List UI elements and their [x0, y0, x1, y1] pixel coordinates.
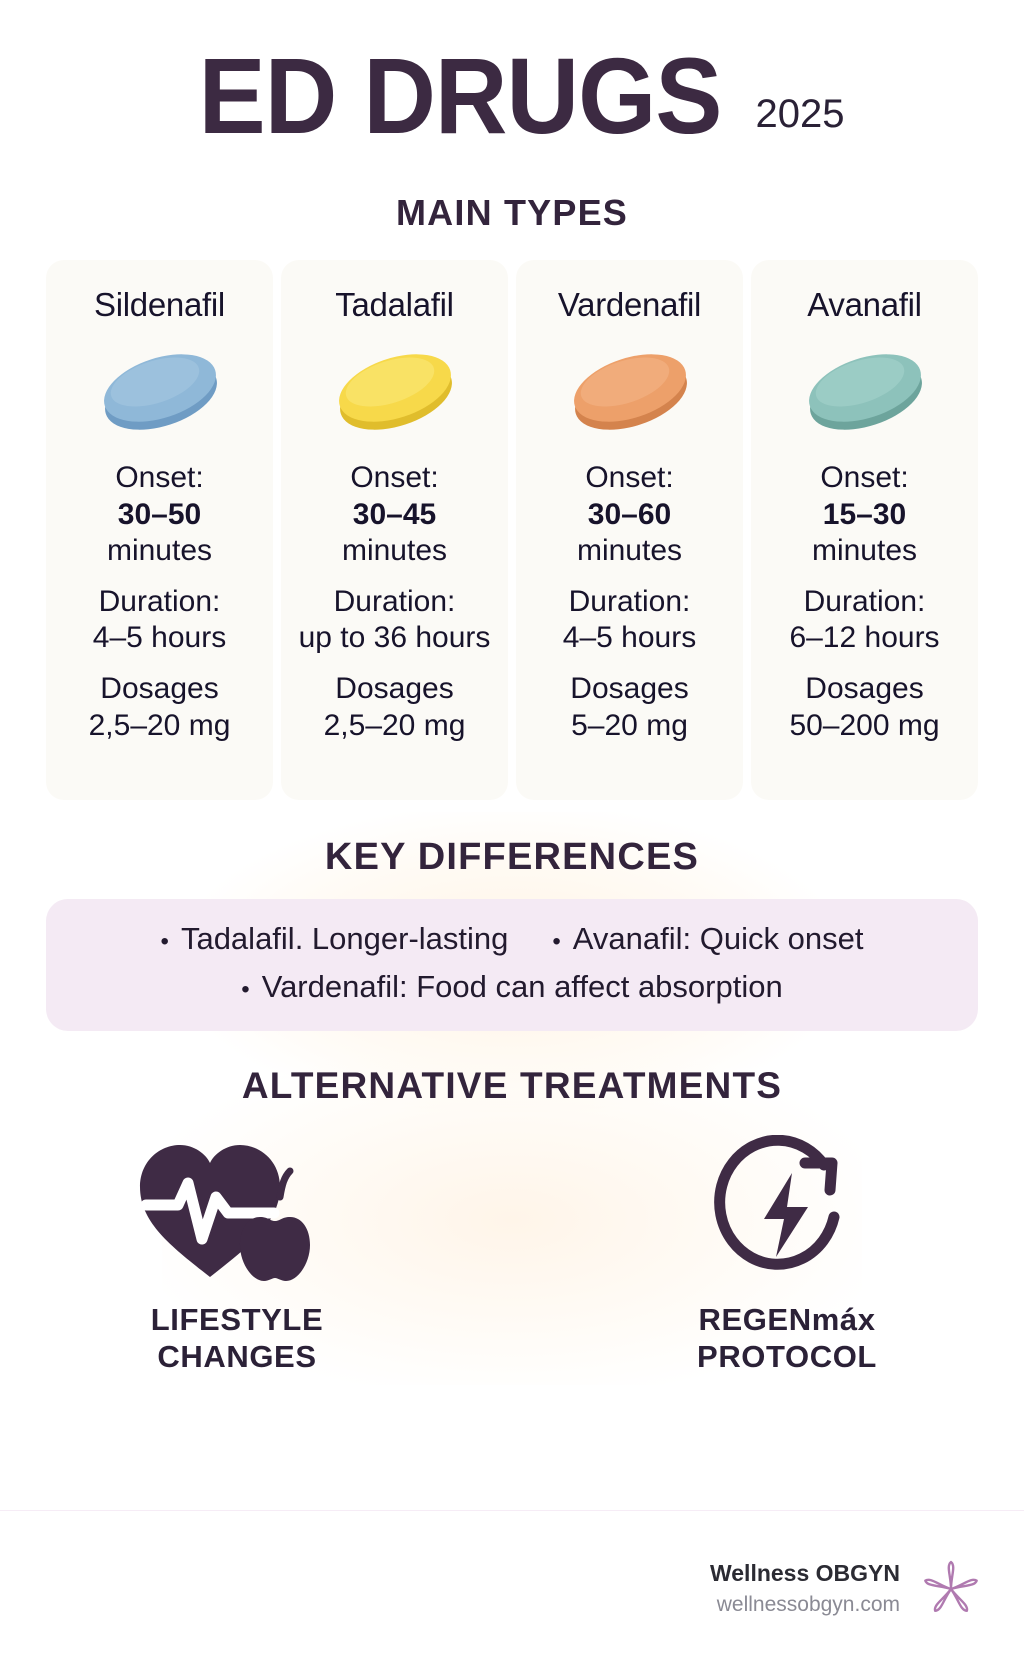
- drug-name: Tadalafil: [291, 286, 498, 324]
- drug-cards-row: Sildenafil Onset: 30–50 minutes Duration…: [0, 260, 1024, 800]
- drug-name: Avanafil: [761, 286, 968, 324]
- key-differences-section: KEY DIFFERENCES • Tadalafil. Longer-last…: [0, 836, 1024, 1031]
- alternative-treatments-row: LIFESTYLE CHANGES REGENmáx PROTOCOL: [0, 1135, 1024, 1375]
- regen-bolt-cycle-icon: [637, 1135, 937, 1285]
- alt-treatment-label-line1: LIFESTYLE CHANGES: [151, 1302, 323, 1374]
- onset-unit: minutes: [526, 533, 733, 570]
- list-item-label: Tadalafil. Longer-lasting: [181, 921, 508, 957]
- heart-pulse-apple-glyph: [132, 1135, 342, 1285]
- duration-value: 4–5 hours: [526, 620, 733, 657]
- dosage-value: 2,5–20 mg: [291, 708, 498, 745]
- list-item: • Avanafil: Quick onset: [552, 921, 863, 957]
- bullet-dot-icon: •: [552, 930, 560, 954]
- duration-value: up to 36 hours: [291, 620, 498, 657]
- drug-card-vardenafil: Vardenafil Onset: 30–60 minutes Duration…: [516, 260, 743, 800]
- flower-logo-icon: [920, 1558, 982, 1620]
- pill-shape-icon: [85, 340, 235, 440]
- onset-label: Onset:: [291, 460, 498, 497]
- title-text: ED DRUGS: [199, 42, 722, 150]
- duration-value: 4–5 hours: [56, 620, 263, 657]
- onset-value: 30–50: [56, 497, 263, 534]
- dosage-field: Dosages 50–200 mg: [761, 671, 968, 744]
- duration-label: Duration:: [291, 584, 498, 621]
- dosage-field: Dosages 5–20 mg: [526, 671, 733, 744]
- alt-treatment-label-line2: PROTOCOL: [697, 1339, 877, 1374]
- key-bullets-row-1: • Tadalafil. Longer-lasting • Avanafil: …: [70, 921, 954, 957]
- heart-pulse-apple-icon: [87, 1135, 387, 1285]
- onset-value: 30–60: [526, 497, 733, 534]
- alt-treatment-label-line1: REGENmáx: [698, 1302, 875, 1337]
- duration-label: Duration:: [526, 584, 733, 621]
- dosage-value: 5–20 mg: [526, 708, 733, 745]
- list-item-label: Avanafil: Quick onset: [573, 921, 864, 957]
- drug-name: Sildenafil: [56, 286, 263, 324]
- key-differences-heading: KEY DIFFERENCES: [0, 836, 1024, 879]
- dosage-value: 2,5–20 mg: [56, 708, 263, 745]
- list-item-label: Vardenafil: Food can affect absorption: [262, 969, 783, 1005]
- dosage-field: Dosages 2,5–20 mg: [291, 671, 498, 744]
- duration-field: Duration: 4–5 hours: [526, 584, 733, 657]
- duration-label: Duration:: [56, 584, 263, 621]
- footer: Wellness OBGYN wellnessobgyn.com: [0, 1510, 1024, 1666]
- pill-icon-tadalafil: [291, 334, 498, 446]
- bullet-dot-icon: •: [241, 978, 249, 1002]
- onset-label: Onset:: [56, 460, 263, 497]
- pill-shape-icon: [790, 340, 940, 440]
- dosage-label: Dosages: [291, 671, 498, 708]
- duration-value: 6–12 hours: [761, 620, 968, 657]
- alt-treatment-regenmax: REGENmáx PROTOCOL: [637, 1135, 937, 1375]
- drug-name: Vardenafil: [526, 286, 733, 324]
- drug-card-tadalafil: Tadalafil Onset: 30–45 minutes Duration:…: [281, 260, 508, 800]
- list-item: • Vardenafil: Food can affect absorption: [241, 969, 782, 1005]
- pill-shape-icon: [320, 340, 470, 440]
- alt-treatment-lifestyle: LIFESTYLE CHANGES: [87, 1135, 387, 1375]
- dosage-label: Dosages: [56, 671, 263, 708]
- infographic-page: ED DRUGS 2025 MAIN TYPES Sildenafil Onse…: [0, 0, 1024, 1666]
- key-bullets-row-2: • Vardenafil: Food can affect absorption: [70, 969, 954, 1005]
- footer-text-block: Wellness OBGYN wellnessobgyn.com: [710, 1560, 900, 1617]
- onset-unit: minutes: [761, 533, 968, 570]
- flower-logo-glyph: [920, 1558, 982, 1620]
- duration-field: Duration: up to 36 hours: [291, 584, 498, 657]
- pill-icon-vardenafil: [526, 334, 733, 446]
- duration-label: Duration:: [761, 584, 968, 621]
- list-item: • Tadalafil. Longer-lasting: [161, 921, 509, 957]
- pill-icon-avanafil: [761, 334, 968, 446]
- onset-label: Onset:: [761, 460, 968, 497]
- page-title: ED DRUGS 2025: [0, 0, 1024, 150]
- duration-field: Duration: 4–5 hours: [56, 584, 263, 657]
- alt-treatment-label: LIFESTYLE CHANGES: [87, 1301, 387, 1375]
- alt-treatment-label: REGENmáx PROTOCOL: [637, 1301, 937, 1375]
- dosage-value: 50–200 mg: [761, 708, 968, 745]
- alternative-treatments-heading: ALTERNATIVE TREATMENTS: [0, 1065, 1024, 1107]
- onset-unit: minutes: [56, 533, 263, 570]
- onset-field: Onset: 30–50 minutes: [56, 460, 263, 570]
- alternative-treatments-section: ALTERNATIVE TREATMENTS LIFESTYLE CHANGES: [0, 1065, 1024, 1395]
- onset-field: Onset: 30–45 minutes: [291, 460, 498, 570]
- key-differences-box: • Tadalafil. Longer-lasting • Avanafil: …: [46, 899, 978, 1031]
- dosage-label: Dosages: [761, 671, 968, 708]
- drug-card-avanafil: Avanafil Onset: 15–30 minutes Duration: …: [751, 260, 978, 800]
- regen-bolt-cycle-glyph: [712, 1135, 862, 1285]
- bullet-dot-icon: •: [161, 930, 169, 954]
- onset-field: Onset: 30–60 minutes: [526, 460, 733, 570]
- onset-unit: minutes: [291, 533, 498, 570]
- footer-url[interactable]: wellnessobgyn.com: [710, 1593, 900, 1617]
- onset-value: 15–30: [761, 497, 968, 534]
- pill-icon-sildenafil: [56, 334, 263, 446]
- onset-field: Onset: 15–30 minutes: [761, 460, 968, 570]
- drug-card-sildenafil: Sildenafil Onset: 30–50 minutes Duration…: [46, 260, 273, 800]
- dosage-field: Dosages 2,5–20 mg: [56, 671, 263, 744]
- title-year: 2025: [756, 92, 845, 137]
- onset-value: 30–45: [291, 497, 498, 534]
- onset-label: Onset:: [526, 460, 733, 497]
- dosage-label: Dosages: [526, 671, 733, 708]
- pill-shape-icon: [555, 340, 705, 440]
- duration-field: Duration: 6–12 hours: [761, 584, 968, 657]
- footer-brand: Wellness OBGYN: [710, 1560, 900, 1587]
- main-types-heading: MAIN TYPES: [0, 192, 1024, 234]
